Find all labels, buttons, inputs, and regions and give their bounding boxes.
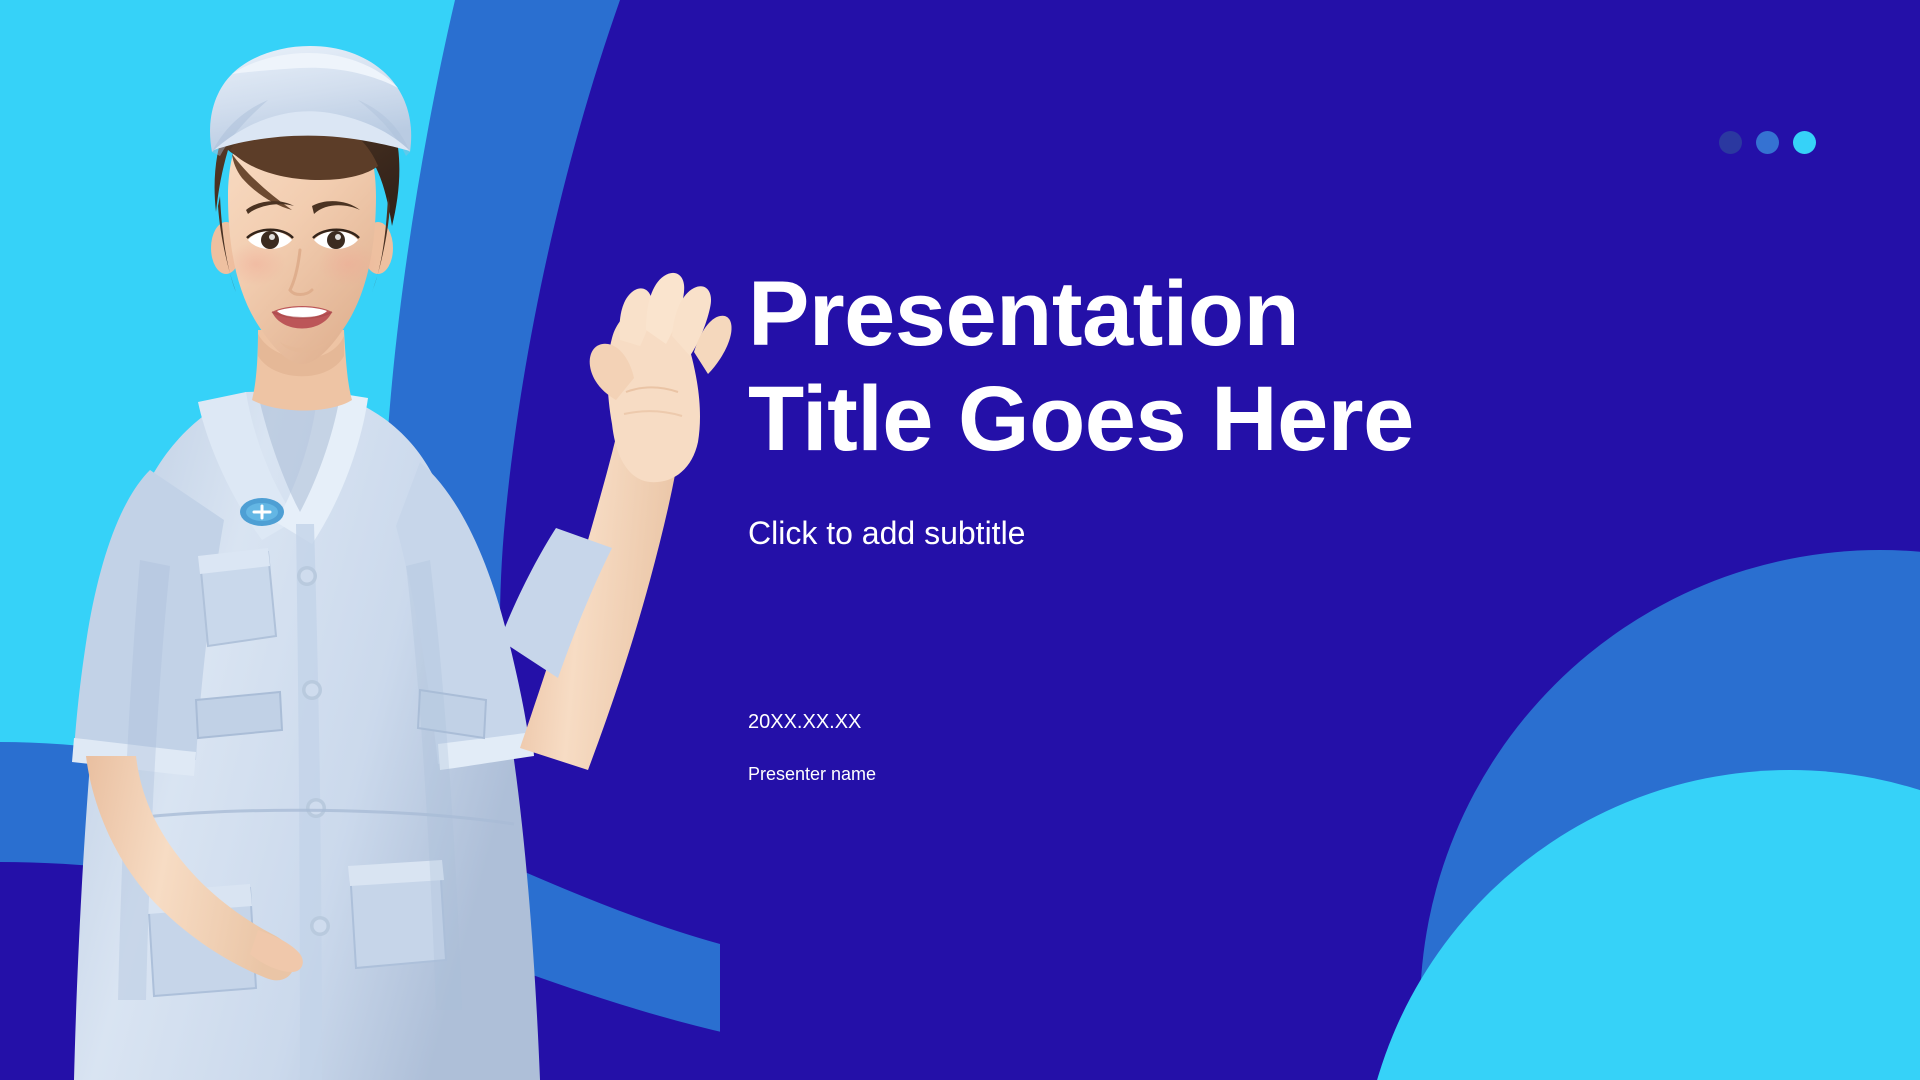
subtitle-placeholder[interactable]: Click to add subtitle: [748, 472, 1868, 552]
presentation-slide: Presentation Title Goes Here Click to ad…: [0, 0, 1920, 1080]
slide-meta-block: 20XX.XX.XX Presenter name: [748, 710, 1348, 786]
decorative-dots-group: [1719, 131, 1816, 154]
dot-cyan-icon: [1793, 131, 1816, 154]
presentation-date[interactable]: 20XX.XX.XX: [748, 710, 1348, 734]
dot-dark-icon: [1719, 131, 1742, 154]
presenter-name[interactable]: Presenter name: [748, 734, 1348, 786]
page-title[interactable]: Presentation Title Goes Here: [748, 262, 1868, 472]
title-text-block: Presentation Title Goes Here Click to ad…: [748, 262, 1868, 552]
dot-medium-icon: [1756, 131, 1779, 154]
